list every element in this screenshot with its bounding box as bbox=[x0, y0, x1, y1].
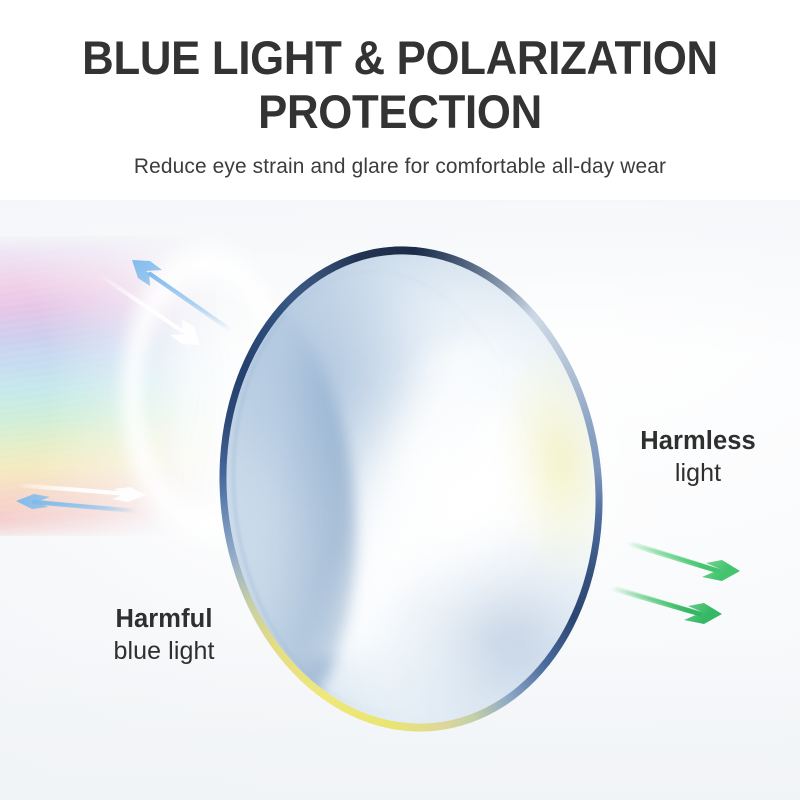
callout-harmful-strong: Harmful bbox=[48, 604, 280, 636]
callout-harmless-light: light bbox=[596, 458, 800, 489]
product-infographic: BLUE LIGHT & POLARIZATION PROTECTION Red… bbox=[0, 0, 800, 800]
callout-harmful-blue-light: Harmful blue light bbox=[48, 604, 280, 667]
page-subtitle: Reduce eye strain and glare for comforta… bbox=[12, 152, 788, 180]
page-title: BLUE LIGHT & POLARIZATION PROTECTION bbox=[28, 31, 772, 139]
transmitted-green-arrow-upper bbox=[629, 541, 740, 581]
callout-harmful-light: blue light bbox=[48, 636, 280, 667]
transmitted-green-arrow-lower bbox=[613, 586, 722, 624]
header-panel: BLUE LIGHT & POLARIZATION PROTECTION Red… bbox=[0, 0, 800, 200]
product-image-stage: Harmful blue light Harmless light bbox=[0, 200, 800, 800]
eyeglass-lens bbox=[198, 229, 625, 749]
callout-harmless-strong: Harmless bbox=[596, 426, 800, 458]
callout-harmless-light: Harmless light bbox=[596, 426, 800, 489]
